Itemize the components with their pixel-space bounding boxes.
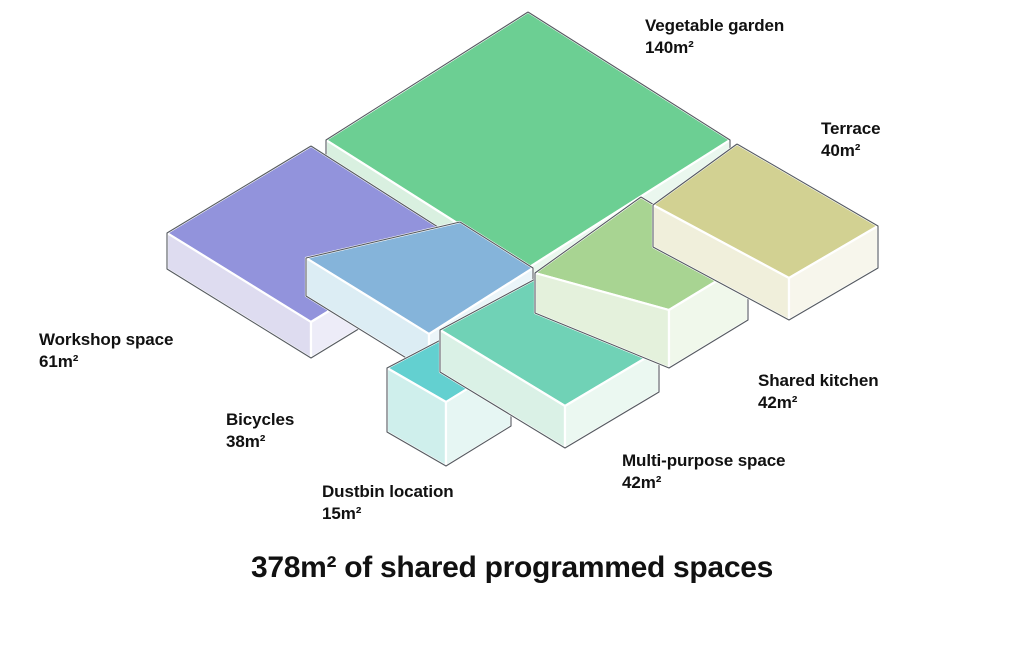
label-shared-kitchen: Shared kitchen 42m² (758, 370, 878, 415)
label-bicycles-name: Bicycles (226, 409, 294, 431)
label-terrace-name: Terrace (821, 118, 880, 140)
label-terrace: Terrace 40m² (821, 118, 880, 163)
label-terrace-area: 40m² (821, 140, 880, 162)
label-shared-kitchen-name: Shared kitchen (758, 370, 878, 392)
label-workshop-space: Workshop space 61m² (39, 329, 173, 374)
label-vegetable-garden-area: 140m² (645, 37, 784, 59)
figure-title: 378m² of shared programmed spaces (0, 551, 1024, 585)
label-workshop-space-name: Workshop space (39, 329, 173, 351)
label-workshop-space-area: 61m² (39, 351, 173, 373)
label-shared-kitchen-area: 42m² (758, 392, 878, 414)
label-bicycles: Bicycles 38m² (226, 409, 294, 454)
label-multi-purpose-space: Multi-purpose space 42m² (622, 450, 785, 495)
label-dustbin-location-name: Dustbin location (322, 481, 454, 503)
label-vegetable-garden-name: Vegetable garden (645, 15, 784, 37)
label-multi-purpose-space-area: 42m² (622, 472, 785, 494)
label-dustbin-location: Dustbin location 15m² (322, 481, 454, 526)
label-bicycles-area: 38m² (226, 431, 294, 453)
isometric-diagram: Vegetable garden 140m² Terrace 40m² Work… (0, 0, 1024, 665)
label-vegetable-garden: Vegetable garden 140m² (645, 15, 784, 60)
label-multi-purpose-space-name: Multi-purpose space (622, 450, 785, 472)
label-dustbin-location-area: 15m² (322, 503, 454, 525)
